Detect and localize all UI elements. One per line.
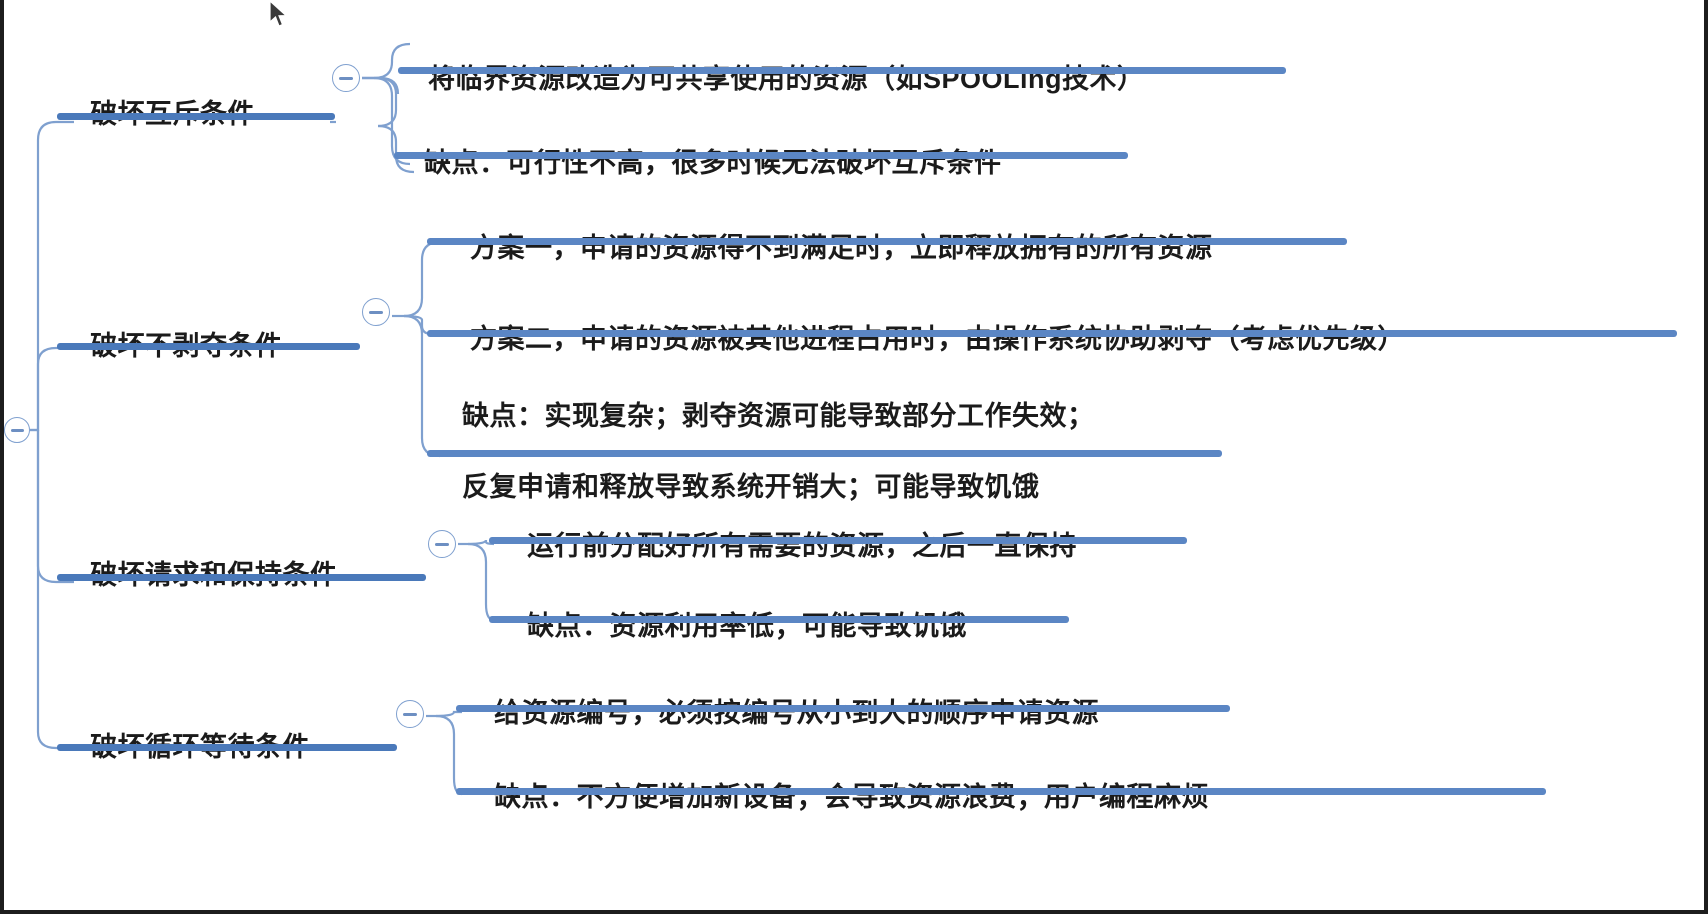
leaf-3-2-underline [489, 616, 1069, 623]
leaf-2-1-line-1: 方案一，申请的资源得不到满足时，立即释放拥有的所有资源 [470, 231, 1213, 266]
frame-edge-right [1704, 0, 1708, 914]
branch-2-underline [57, 343, 360, 350]
leaf-4-2[interactable]: 缺点：不方便增加新设备；会导致资源浪费；用户编程麻烦 [494, 744, 1209, 851]
leaf-4-2-underline [456, 788, 1546, 795]
mindmap-canvas: 破坏互斥条件 将临界资源改造为可共享使用的资源（如SPOOLing技术） 缺点：… [0, 0, 1708, 914]
leaf-2-3-line-1: 缺点：实现复杂；剥夺资源可能导致部分工作失效； [462, 399, 1095, 434]
leaf-2-3-underline [427, 450, 1222, 457]
frame-edge-left [0, 0, 4, 914]
branch-2-collapse-toggle[interactable] [362, 298, 390, 326]
frame-edge-bottom [0, 910, 1708, 914]
leaf-4-1-line-1: 给资源编号，必须按编号从小到大的顺序申请资源 [494, 696, 1099, 731]
leaf-1-2-underline [394, 152, 1128, 159]
leaf-2-2-underline [427, 330, 1677, 337]
leaf-1-1-underline [398, 67, 1286, 74]
leaf-2-2-line-1: 方案二，申请的资源被其他进程占用时，由操作系统协助剥夺（考虑优先级） [470, 322, 1405, 357]
root-collapse-toggle[interactable] [4, 417, 30, 443]
branch-4-collapse-toggle[interactable] [396, 700, 424, 728]
leaf-3-1-underline [489, 537, 1187, 544]
leaf-4-1-underline [456, 705, 1230, 712]
branch-3-collapse-toggle[interactable] [428, 530, 456, 558]
mouse-cursor [268, 0, 290, 30]
leaf-4-2-line-1: 缺点：不方便增加新设备；会导致资源浪费；用户编程麻烦 [494, 780, 1209, 815]
leaf-3-2-line-1: 缺点：资源利用率低；可能导致饥饿 [527, 609, 967, 644]
branch-1-collapse-toggle[interactable] [332, 64, 360, 92]
leaf-2-1-underline [427, 238, 1347, 245]
branch-1-underline [57, 113, 335, 120]
branch-4-underline [57, 744, 397, 751]
leaf-3-1-line-1: 运行前分配好所有需要的资源，之后一直保持 [527, 529, 1077, 564]
branch-3-underline [57, 574, 426, 581]
